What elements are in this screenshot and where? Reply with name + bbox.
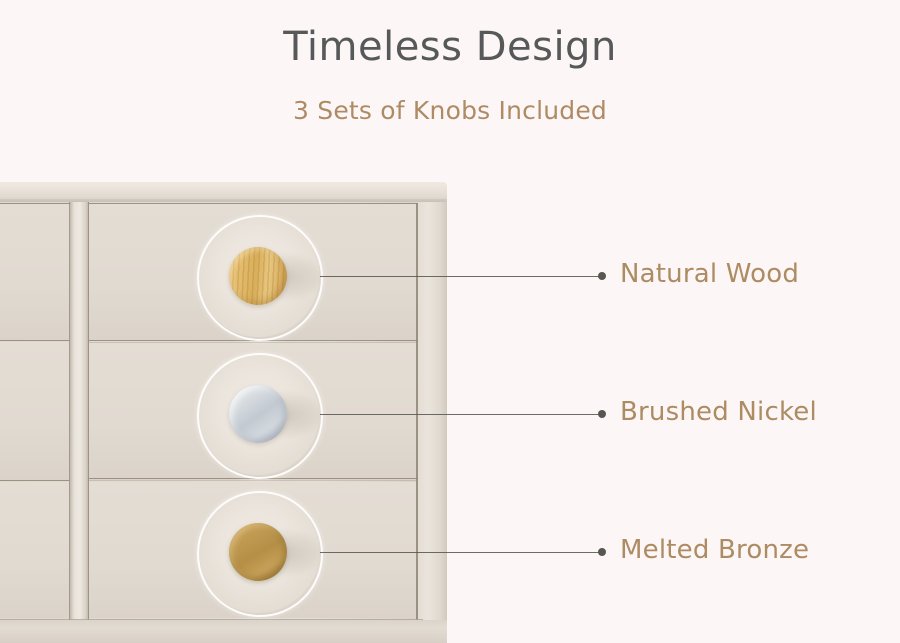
drawer-face-left-top — [0, 204, 69, 340]
knob-melted-bronze[interactable] — [229, 523, 287, 581]
dresser-right-side-panel — [418, 202, 447, 643]
leader-dot-natural-wood — [598, 272, 606, 280]
drawer-face-left-bottom — [0, 482, 69, 618]
dresser-plinth-seam — [0, 619, 423, 620]
dresser-plinth — [0, 620, 447, 643]
callout-label-natural-wood: Natural Wood — [620, 259, 799, 289]
dresser-center-stile-left-edge — [69, 202, 70, 620]
page-title: Timeless Design — [0, 24, 900, 70]
knob-natural-wood[interactable] — [229, 247, 287, 305]
seam-left-1 — [0, 340, 69, 341]
leader-line-brushed-nickel — [320, 414, 600, 415]
product-feature-graphic: Timeless Design 3 Sets of Knobs Included — [0, 0, 900, 643]
page-subtitle: 3 Sets of Knobs Included — [0, 96, 900, 125]
seam-right-edge — [416, 203, 418, 620]
dresser-center-stile — [70, 202, 89, 620]
dresser-illustration — [0, 182, 447, 643]
callout-label-brushed-nickel: Brushed Nickel — [620, 397, 817, 427]
leader-line-melted-bronze — [320, 552, 600, 553]
dresser-center-stile-right-edge — [88, 202, 89, 620]
leader-dot-brushed-nickel — [598, 410, 606, 418]
seam-top — [0, 203, 418, 204]
leader-dot-melted-bronze — [598, 548, 606, 556]
seam-right-1-shadow — [89, 342, 418, 343]
callout-label-melted-bronze: Melted Bronze — [620, 535, 809, 565]
knob-brushed-nickel[interactable] — [229, 385, 287, 443]
leader-line-natural-wood — [320, 276, 600, 277]
seam-right-2-shadow — [89, 480, 418, 481]
drawer-face-left-middle — [0, 342, 69, 480]
seam-left-2 — [0, 480, 69, 481]
